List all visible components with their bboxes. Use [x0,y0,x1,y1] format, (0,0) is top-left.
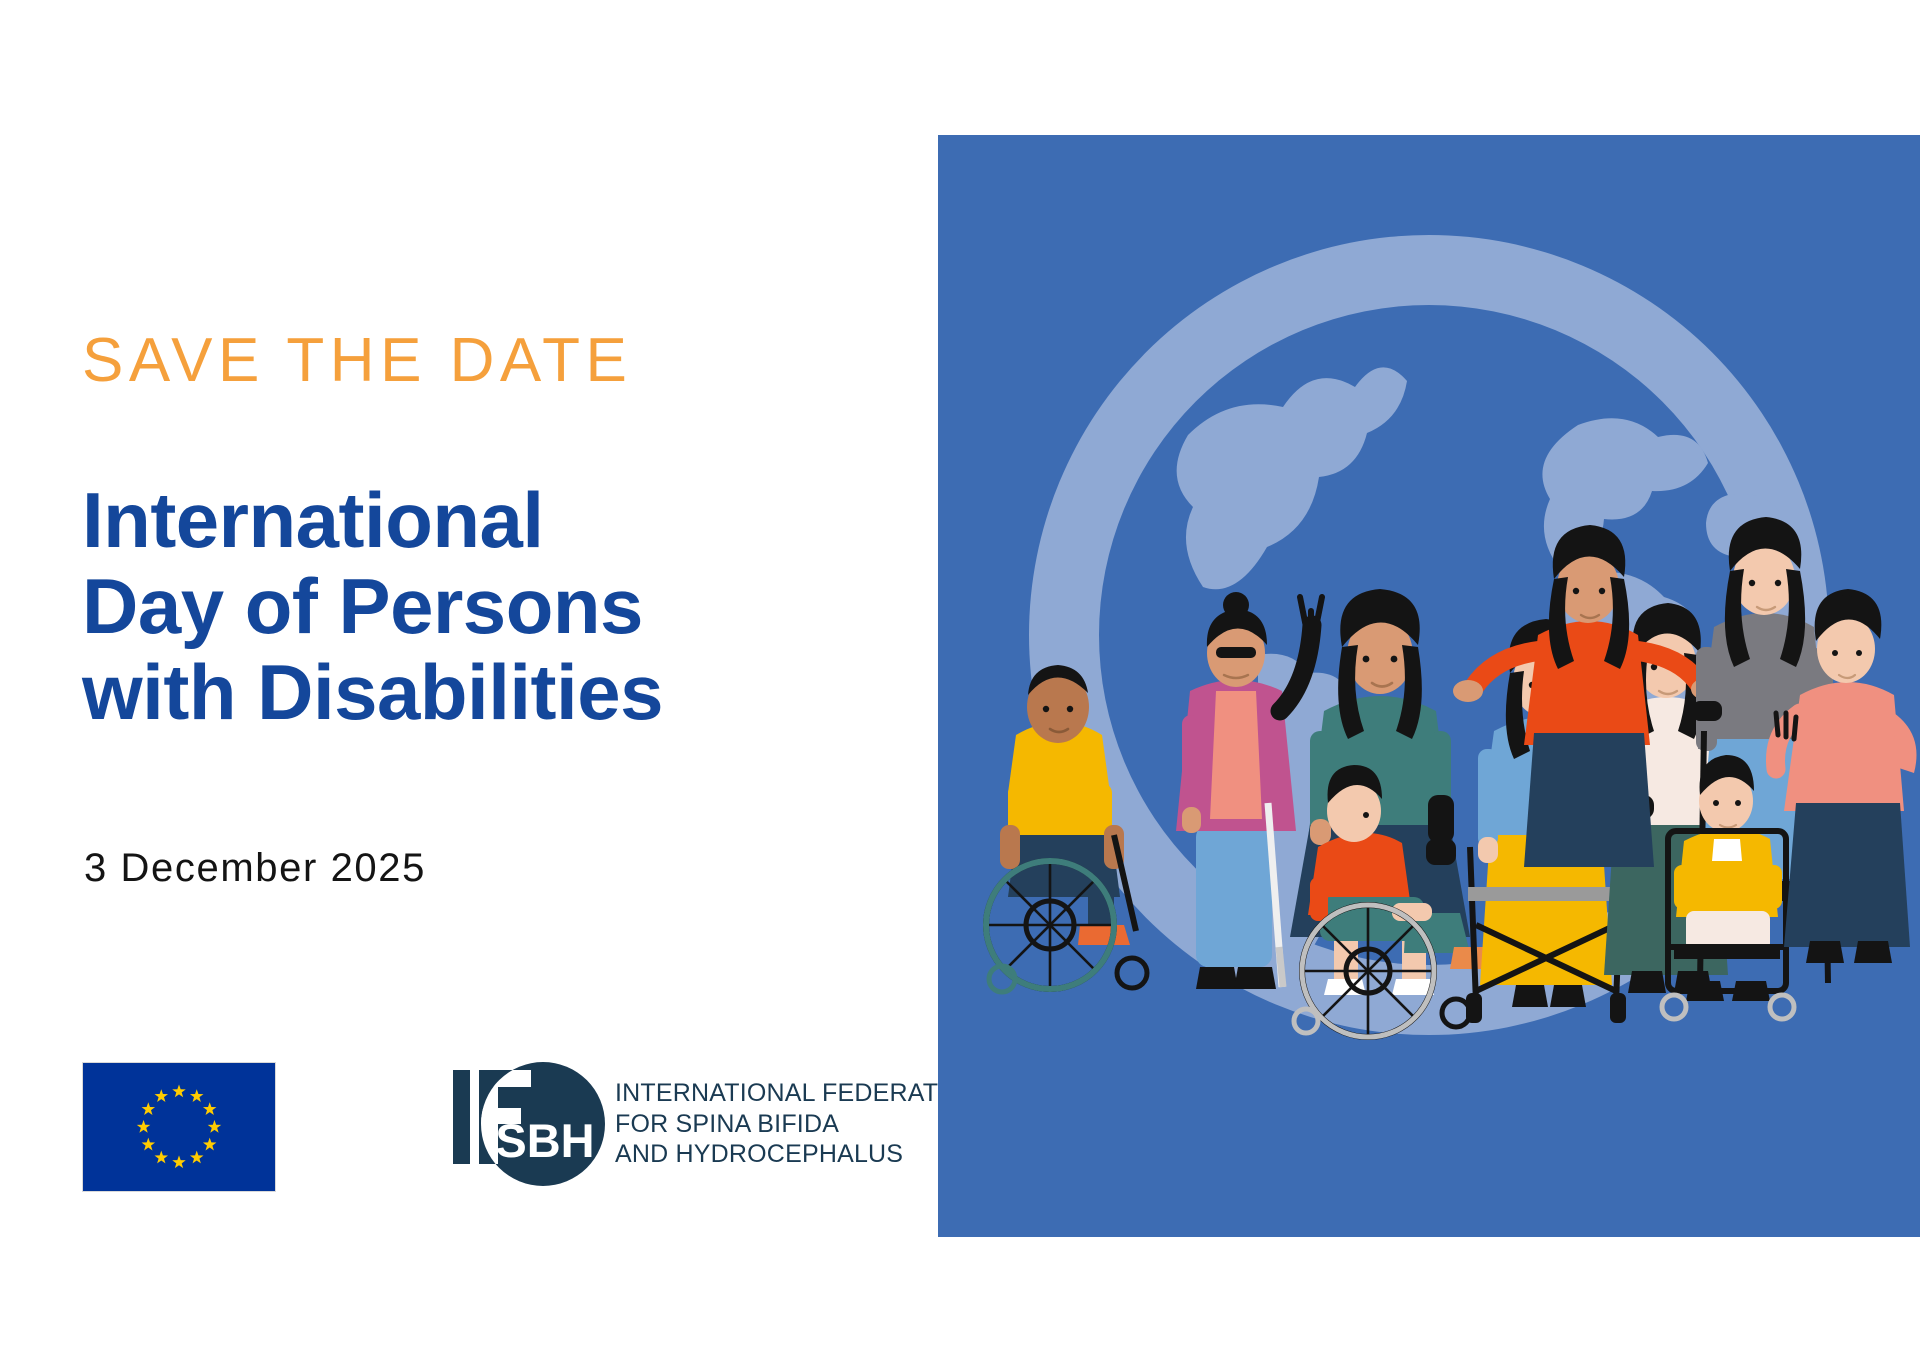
poster-canvas: SAVE THE DATE International Day of Perso… [0,0,1920,1356]
eyebrow-save-the-date: SAVE THE DATE [82,330,632,392]
page-title-line-3: with Disabilities [82,650,663,736]
page-title-line-1: International [82,478,663,564]
svg-text:SBH: SBH [495,1114,594,1167]
event-date: 3 December 2025 [84,848,426,888]
page-title-line-2: Day of Persons [82,564,663,650]
european-union-flag-icon [82,1062,276,1192]
ifsbh-text-line-3: AND HYDROCEPHALUS [615,1139,983,1170]
ifsbh-logo-text: INTERNATIONAL FEDERATION FOR SPINA BIFID… [615,1078,983,1170]
page-title: International Day of Persons with Disabi… [82,478,663,735]
ifsbh-text-line-2: FOR SPINA BIFIDA [615,1109,983,1140]
ifsbh-logo: SBH INTERNATIONAL FEDERATION FOR SPINA B… [447,1050,947,1200]
text-column: SAVE THE DATE International Day of Perso… [82,0,902,1356]
illustration-panel [938,135,1920,1237]
ifsbh-monogram-icon: SBH [447,1050,607,1198]
ifsbh-text-line-1: INTERNATIONAL FEDERATION [615,1078,983,1109]
